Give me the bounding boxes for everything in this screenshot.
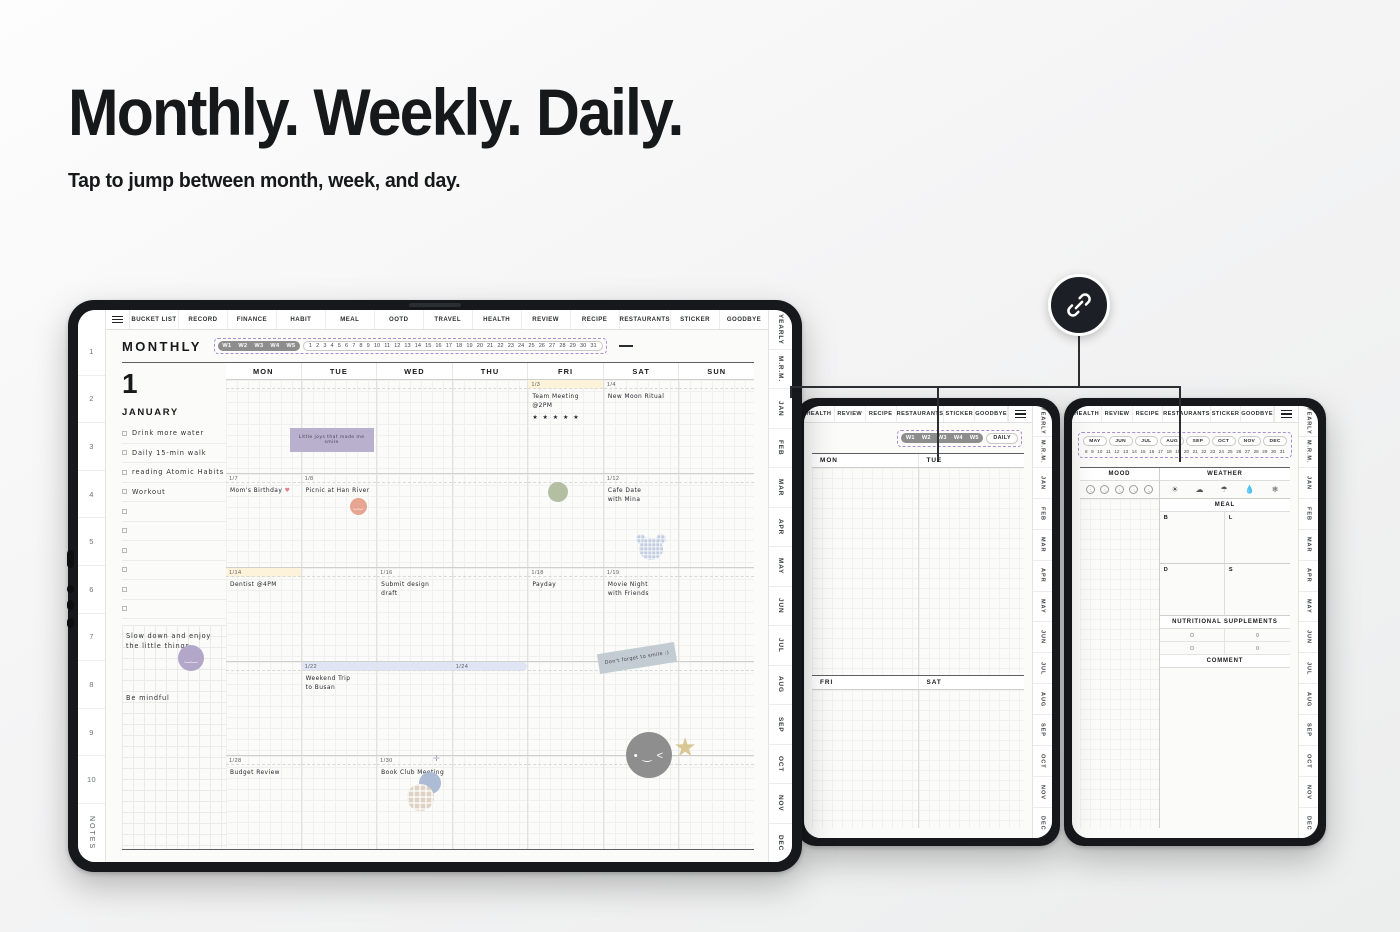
nav-item-sticker[interactable]: STICKER bbox=[671, 310, 720, 329]
page-number-5[interactable]: 5 bbox=[78, 518, 105, 566]
calendar-cell[interactable] bbox=[679, 380, 754, 473]
daily-day-number-30[interactable]: 30 bbox=[1271, 449, 1276, 454]
day-number-1[interactable]: 1 bbox=[309, 343, 312, 349]
daily-pill[interactable]: DAILY bbox=[986, 433, 1018, 444]
todo-row[interactable]: Workout bbox=[122, 483, 226, 503]
nav-item-ootd[interactable]: OOTD bbox=[375, 310, 424, 329]
weekly-month-rail[interactable]: YEARLYM.R.M.JANFEBMARAPRMAYJUNJULAUGSEPO… bbox=[1032, 406, 1052, 838]
dow-tue: TUE bbox=[302, 363, 378, 379]
month-tab-may[interactable]: MAY bbox=[769, 547, 792, 587]
page-number-3[interactable]: 3 bbox=[78, 423, 105, 471]
month-tab-mar[interactable]: MAR bbox=[1299, 530, 1318, 561]
weather-header: WEATHER bbox=[1160, 468, 1290, 481]
nav-item-recipe[interactable]: RECIPE bbox=[571, 310, 620, 329]
day-number-11[interactable]: 11 bbox=[384, 343, 390, 349]
nav-item-recipe[interactable]: RECIPE bbox=[866, 406, 897, 422]
calendar-cell[interactable]: Little joys that made me smile bbox=[302, 380, 378, 473]
month-tab-oct[interactable]: OCT bbox=[769, 745, 792, 785]
meal-slot-dinner[interactable]: D bbox=[1160, 564, 1225, 616]
month-tab-mrm[interactable]: M.R.M. bbox=[1033, 437, 1052, 468]
nav-item-restaurants[interactable]: RESTAURANTS bbox=[1163, 406, 1211, 422]
calendar-cell[interactable]: 1/12Cafe Datewith Mina bbox=[604, 474, 680, 567]
month-tab-sep[interactable]: SEP bbox=[769, 705, 792, 745]
daily-day-number-23[interactable]: 23 bbox=[1210, 449, 1215, 454]
nav-item-bucket-list[interactable]: BUCKET LIST bbox=[130, 310, 179, 329]
month-tab-jan[interactable]: JAN bbox=[769, 389, 792, 429]
calendar-cell[interactable] bbox=[679, 474, 754, 567]
weekly-content: MON TUE FRI SAT bbox=[804, 453, 1032, 838]
month-pill-dec[interactable]: DEC bbox=[1263, 436, 1287, 446]
daily-day-number-22[interactable]: 22 bbox=[1201, 449, 1206, 454]
calendar-cell[interactable]: 1/7Mom's Birthday ♥ bbox=[226, 474, 302, 567]
month-tab-nov[interactable]: NOV bbox=[1299, 777, 1318, 808]
month-tab-aug[interactable]: AUG bbox=[769, 666, 792, 706]
bear-ear-right bbox=[656, 534, 666, 544]
week-pill-w2[interactable]: W2 bbox=[237, 342, 249, 350]
day-number-10[interactable]: 10 bbox=[374, 343, 380, 349]
month-tab-mrm[interactable]: M.R.M. bbox=[769, 350, 792, 390]
calendar-cell[interactable] bbox=[453, 756, 529, 849]
weekly-cell-tue[interactable] bbox=[919, 468, 1025, 675]
cell-date-label bbox=[453, 474, 528, 483]
month-tab-apr[interactable]: APR bbox=[1299, 561, 1318, 592]
daily-day-number-27[interactable]: 27 bbox=[1245, 449, 1250, 454]
month-tab-jul[interactable]: JUL bbox=[769, 626, 792, 666]
day-number-strip[interactable]: 1234567891011121314151617181920212223242… bbox=[303, 341, 603, 351]
hamburger-icon[interactable] bbox=[1274, 406, 1298, 422]
weekly-cell-sat[interactable] bbox=[919, 690, 1025, 828]
calendar-cell[interactable] bbox=[226, 380, 302, 473]
daily-day-number-15[interactable]: 15 bbox=[1140, 449, 1145, 454]
month-pill-jul[interactable]: JUL bbox=[1135, 436, 1159, 446]
checkbox-icon[interactable] bbox=[122, 548, 127, 553]
month-tab-nov[interactable]: NOV bbox=[769, 784, 792, 824]
calendar-cell[interactable]: 1/16Submit design draft bbox=[377, 568, 453, 661]
meal-slot-breakfast[interactable]: B bbox=[1160, 512, 1225, 564]
day-number-17[interactable]: 17 bbox=[446, 343, 452, 349]
cell-event-text: Submit design draft bbox=[377, 577, 452, 600]
nav-item-review[interactable]: REVIEW bbox=[1102, 406, 1132, 422]
todo-row[interactable] bbox=[122, 541, 226, 561]
month-tab-apr[interactable]: APR bbox=[1033, 561, 1052, 592]
day-number-19[interactable]: 19 bbox=[466, 343, 472, 349]
nav-item-meal[interactable]: MEAL bbox=[326, 310, 375, 329]
daily-day-number-16[interactable]: 16 bbox=[1149, 449, 1154, 454]
notes-box[interactable]: Slow down and enjoy the little things Be… bbox=[122, 625, 226, 850]
month-tab-jul[interactable]: JUL bbox=[1299, 653, 1318, 684]
month-tab-jan[interactable]: JAN bbox=[1299, 468, 1318, 499]
day-number-21[interactable]: 21 bbox=[487, 343, 493, 349]
day-number-9[interactable]: 9 bbox=[367, 343, 370, 349]
day-number-22[interactable]: 22 bbox=[497, 343, 503, 349]
calendar-cell[interactable]: 1/30Book Club Meeting✛ bbox=[377, 756, 453, 849]
calendar-cell[interactable] bbox=[377, 380, 453, 473]
daily-day-number-24[interactable]: 24 bbox=[1219, 449, 1224, 454]
todo-row[interactable] bbox=[122, 580, 226, 600]
page-number-rail[interactable]: 12345678910NOTES bbox=[78, 310, 106, 862]
calendar-cell[interactable]: 1/24 bbox=[453, 662, 529, 755]
cell-date-label bbox=[377, 474, 452, 483]
nav-item-review[interactable]: REVIEW bbox=[835, 406, 866, 422]
month-tab-sep[interactable]: SEP bbox=[1033, 715, 1052, 746]
day-number-27[interactable]: 27 bbox=[549, 343, 555, 349]
rail-notes-tab[interactable]: NOTES bbox=[78, 804, 105, 862]
nav-item-travel[interactable]: TRAVEL bbox=[424, 310, 473, 329]
calendar-cell[interactable] bbox=[679, 662, 754, 755]
todo-row[interactable]: Drink more water bbox=[122, 424, 226, 444]
nav-item-recipe[interactable]: RECIPE bbox=[1133, 406, 1163, 422]
week-pill-w1[interactable]: W1 bbox=[904, 434, 916, 442]
hamburger-icon[interactable] bbox=[1008, 406, 1032, 422]
month-pill-nov[interactable]: NOV bbox=[1238, 436, 1262, 446]
todo-row[interactable] bbox=[122, 561, 226, 581]
weekly-header-row-bottom: FRI SAT bbox=[812, 676, 1024, 690]
day-number-4[interactable]: 4 bbox=[331, 343, 334, 349]
rain-icon[interactable]: ☂ bbox=[1221, 485, 1228, 494]
sun-icon[interactable]: ☀ bbox=[1171, 485, 1178, 494]
weekly-cell-mon[interactable] bbox=[812, 468, 919, 675]
daily-columns: MOOD ·̮ ·̮ ·̮ ·̮ ·̮ WEATHER ☀ bbox=[1080, 467, 1290, 828]
calendar-cell[interactable] bbox=[453, 568, 529, 661]
nav-item-sticker[interactable]: STICKER bbox=[1211, 406, 1241, 422]
month-tab-jul[interactable]: JUL bbox=[1033, 653, 1052, 684]
todo-row[interactable] bbox=[122, 502, 226, 522]
page-number-8[interactable]: 8 bbox=[78, 661, 105, 709]
daily-day-number-8[interactable]: 8 bbox=[1085, 449, 1088, 454]
link-badge[interactable] bbox=[1048, 274, 1110, 336]
page-number-2[interactable]: 2 bbox=[78, 376, 105, 424]
mood-icon-2[interactable]: ·̮ bbox=[1100, 485, 1109, 494]
page-number-4[interactable]: 4 bbox=[78, 471, 105, 519]
volume-button[interactable] bbox=[67, 550, 74, 568]
month-tab-dec[interactable]: DEC bbox=[769, 824, 792, 863]
month-tab-nov[interactable]: NOV bbox=[1033, 777, 1052, 808]
page-number-6[interactable]: 6 bbox=[78, 566, 105, 614]
month-tab-may[interactable]: MAY bbox=[1033, 592, 1052, 623]
daily-day-number-31[interactable]: 31 bbox=[1280, 449, 1285, 454]
calendar-cell[interactable]: 1/4New Moon Ritual bbox=[604, 380, 680, 473]
nav-item-record[interactable]: RECORD bbox=[179, 310, 228, 329]
month-tab-yearly[interactable]: YEARLY bbox=[1033, 406, 1052, 437]
nav-item-sticker[interactable]: STICKER bbox=[944, 406, 975, 422]
day-number-20[interactable]: 20 bbox=[477, 343, 483, 349]
nav-item-habit[interactable]: HABIT bbox=[277, 310, 326, 329]
week-pill-w4[interactable]: W4 bbox=[269, 342, 281, 350]
nav-item-goodbye[interactable]: GOODBYE bbox=[975, 406, 1008, 422]
cell-date-label: 1/3 bbox=[528, 380, 603, 389]
calendar-cell[interactable] bbox=[528, 662, 604, 755]
page-title: Monthly. Weekly. Daily. bbox=[68, 78, 683, 147]
day-number-18[interactable]: 18 bbox=[456, 343, 462, 349]
meal-slot-lunch[interactable]: L bbox=[1225, 512, 1290, 564]
checkbox-icon[interactable] bbox=[122, 567, 127, 572]
month-pill-jun[interactable]: JUN bbox=[1109, 436, 1133, 446]
cloud-icon[interactable]: ☁ bbox=[1196, 485, 1204, 494]
dow-mon: MON bbox=[226, 363, 302, 379]
cell-date-label bbox=[302, 756, 377, 765]
todo-row[interactable]: reading Atomic Habits bbox=[122, 463, 226, 483]
month-tab-jun[interactable]: JUN bbox=[1299, 622, 1318, 653]
month-tab-feb[interactable]: FEB bbox=[1033, 499, 1052, 530]
nav-item-goodbye[interactable]: GOODBYE bbox=[720, 310, 768, 329]
month-tab-yearly[interactable]: YEARLY bbox=[769, 310, 792, 350]
day-number-30[interactable]: 30 bbox=[580, 343, 586, 349]
page-number-9[interactable]: 9 bbox=[78, 709, 105, 757]
weekly-body-top bbox=[812, 468, 1024, 675]
week-pill-w1[interactable]: W1 bbox=[221, 342, 233, 350]
daily-day-number-13[interactable]: 13 bbox=[1123, 449, 1128, 454]
daily-day-number-10[interactable]: 10 bbox=[1097, 449, 1102, 454]
todo-row[interactable]: Daily 15-min walk bbox=[122, 444, 226, 464]
supplement-cell[interactable] bbox=[1160, 629, 1226, 641]
mood-icon-3[interactable]: ·̮ bbox=[1115, 485, 1124, 494]
calendar-cell[interactable] bbox=[528, 474, 604, 567]
month-tab-feb[interactable]: FEB bbox=[1299, 499, 1318, 530]
button-small-3[interactable] bbox=[67, 618, 74, 628]
nav-item-health[interactable]: HEALTH bbox=[804, 406, 835, 422]
checkbox-icon[interactable] bbox=[122, 587, 127, 592]
connector-vertical-right bbox=[1179, 386, 1181, 462]
checkbox-icon[interactable] bbox=[122, 528, 127, 533]
calendar-cell[interactable] bbox=[302, 756, 378, 849]
drop-icon[interactable]: 💧 bbox=[1245, 485, 1255, 494]
month-tab-mar[interactable]: MAR bbox=[1033, 530, 1052, 561]
daily-day-number-14[interactable]: 14 bbox=[1132, 449, 1137, 454]
month-tab-may[interactable]: MAY bbox=[1299, 592, 1318, 623]
day-number-25[interactable]: 25 bbox=[528, 343, 534, 349]
daily-month-day-selector[interactable]: MAY JUN JUL AUG SEP OCT NOV DEC 89101112… bbox=[1078, 432, 1292, 458]
calendar-cell[interactable] bbox=[453, 474, 529, 567]
calendar-cell[interactable] bbox=[226, 662, 302, 755]
day-number-15[interactable]: 15 bbox=[425, 343, 431, 349]
meal-slot-snack[interactable]: S bbox=[1225, 564, 1290, 616]
sticker-gingham-circle bbox=[407, 784, 434, 811]
month-pill-oct[interactable]: OCT bbox=[1212, 436, 1236, 446]
daily-day-number-20[interactable]: 20 bbox=[1184, 449, 1189, 454]
hamburger-icon[interactable] bbox=[106, 310, 130, 329]
day-number-31[interactable]: 31 bbox=[590, 343, 596, 349]
checkbox-icon[interactable] bbox=[122, 606, 127, 611]
todo-label: Drink more water bbox=[132, 429, 204, 437]
mood-icon-1[interactable]: ·̮ bbox=[1086, 485, 1095, 494]
day-number-23[interactable]: 23 bbox=[508, 343, 514, 349]
selector-connector-tail bbox=[619, 345, 633, 346]
nav-item-restaurants[interactable]: RESTAURANTS bbox=[620, 310, 672, 329]
monthly-week-day-selector[interactable]: W1 W2 W3 W4 W5 1234567891011121314151617… bbox=[214, 338, 607, 354]
month-tab-sep[interactable]: SEP bbox=[1299, 715, 1318, 746]
month-tab-dec[interactable]: DEC bbox=[1299, 808, 1318, 838]
calendar-cell[interactable] bbox=[528, 756, 604, 849]
calendar-cell[interactable] bbox=[679, 568, 754, 661]
meal-grid: B L D S bbox=[1160, 512, 1290, 616]
supplement-row[interactable] bbox=[1160, 642, 1290, 655]
calendar-cell[interactable]: 1/19Movie Nightwith Friends bbox=[604, 568, 680, 661]
supplement-cell[interactable] bbox=[1160, 642, 1226, 654]
calendar-cell[interactable]: 1/3Team Meeting@2PM★ ★ ★ ★ ★ bbox=[528, 380, 604, 473]
mood-icon-4[interactable]: ·̮ bbox=[1129, 485, 1138, 494]
mood-row: ·̮ ·̮ ·̮ ·̮ ·̮ bbox=[1080, 481, 1159, 499]
calendar-cell[interactable] bbox=[302, 568, 378, 661]
nav-item-review[interactable]: REVIEW bbox=[522, 310, 571, 329]
nav-item-finance[interactable]: FINANCE bbox=[228, 310, 277, 329]
monthly-calendar-wrap: 1 JANUARY Drink more waterDaily 15-min w… bbox=[106, 362, 768, 862]
cell-date-label bbox=[604, 756, 679, 765]
bear-head bbox=[639, 538, 663, 560]
daily-day-number-18[interactable]: 18 bbox=[1167, 449, 1172, 454]
snow-icon[interactable]: ❄ bbox=[1272, 485, 1279, 494]
daily-day-number-29[interactable]: 29 bbox=[1262, 449, 1267, 454]
calendar-cell[interactable]: 1/22Weekend Tripto Busan bbox=[302, 662, 378, 755]
week-pill-w4[interactable]: W4 bbox=[952, 434, 964, 442]
week-pill-group[interactable]: W1 W2 W3 W4 W5 bbox=[901, 433, 983, 443]
note-line-2: the little things bbox=[126, 641, 222, 651]
weekly-header-row-top: MON TUE bbox=[812, 454, 1024, 468]
daily-topnav: HEALTH REVIEW RECIPE RESTAURANTS STICKER… bbox=[1072, 406, 1298, 423]
tablet-daily: HEALTH REVIEW RECIPE RESTAURANTS STICKER… bbox=[1064, 398, 1326, 846]
day-number-5[interactable]: 5 bbox=[338, 343, 341, 349]
daily-page: HEALTH REVIEW RECIPE RESTAURANTS STICKER… bbox=[1072, 406, 1298, 838]
day-number-3[interactable]: 3 bbox=[323, 343, 326, 349]
comment-area[interactable] bbox=[1160, 668, 1290, 828]
mood-icon-5[interactable]: ·̮ bbox=[1144, 485, 1153, 494]
month-tab-yearly[interactable]: YEARLY bbox=[1299, 406, 1318, 437]
day-number-7[interactable]: 7 bbox=[352, 343, 355, 349]
button-small[interactable] bbox=[67, 585, 74, 593]
daily-day-number-9[interactable]: 9 bbox=[1091, 449, 1094, 454]
daily-left-blank-area[interactable] bbox=[1080, 499, 1159, 828]
week-pill-w2[interactable]: W2 bbox=[920, 434, 932, 442]
checkbox-dot-icon bbox=[1256, 633, 1260, 637]
daily-month-rail[interactable]: YEARLYM.R.M.JANFEBMARAPRMAYJUNJULAUGSEPO… bbox=[1298, 406, 1318, 838]
day-number-28[interactable]: 28 bbox=[559, 343, 565, 349]
checkbox-icon[interactable] bbox=[122, 489, 127, 494]
monthly-sidebar: 1 JANUARY Drink more waterDaily 15-min w… bbox=[122, 362, 226, 850]
calendar-cell[interactable]: ★ bbox=[679, 756, 754, 849]
month-tab-jun[interactable]: JUN bbox=[1033, 622, 1052, 653]
cell-date-label bbox=[679, 380, 754, 389]
daily-day-number-12[interactable]: 12 bbox=[1114, 449, 1119, 454]
todo-row[interactable] bbox=[122, 522, 226, 542]
checkbox-icon[interactable] bbox=[122, 431, 127, 436]
todo-list[interactable]: Drink more waterDaily 15-min walkreading… bbox=[122, 424, 226, 619]
month-pill-sep[interactable]: SEP bbox=[1186, 436, 1210, 446]
cell-date-label bbox=[604, 662, 679, 671]
button-small-2[interactable] bbox=[67, 600, 74, 610]
daily-day-number-28[interactable]: 28 bbox=[1254, 449, 1259, 454]
month-tab-aug[interactable]: AUG bbox=[1299, 684, 1318, 715]
calendar-cell[interactable]: 1/8Picnic at Han River‿‿ bbox=[302, 474, 378, 567]
calendar-week-row: 1/14Dentist @4PM1/16Submit design draft1… bbox=[226, 568, 754, 662]
camera-icon bbox=[409, 303, 461, 307]
checkbox-dot-icon bbox=[1190, 633, 1194, 637]
month-pill-may[interactable]: MAY bbox=[1083, 436, 1107, 446]
supplement-cell[interactable] bbox=[1225, 642, 1290, 654]
cell-date-label: 1/28 bbox=[226, 756, 301, 765]
month-tab-oct[interactable]: OCT bbox=[1033, 746, 1052, 777]
day-number-29[interactable]: 29 bbox=[570, 343, 576, 349]
cell-date-label: 1/18 bbox=[528, 568, 603, 577]
monthly-month-rail[interactable]: YEARLYM.R.M.JANFEBMARAPRMAYJUNJULAUGSEPO… bbox=[768, 310, 792, 862]
week-pill-w5[interactable]: W5 bbox=[285, 342, 297, 350]
day-number-12[interactable]: 12 bbox=[394, 343, 400, 349]
daily-day-number-25[interactable]: 25 bbox=[1227, 449, 1232, 454]
cell-date-label bbox=[302, 380, 377, 389]
month-tab-apr[interactable]: APR bbox=[769, 508, 792, 548]
tablet-weekly: HEALTH REVIEW RECIPE RESTAURANTS STICKER… bbox=[796, 398, 1060, 846]
checkbox-icon[interactable] bbox=[122, 470, 127, 475]
note-line-1: Slow down and enjoy bbox=[126, 631, 222, 641]
day-number-24[interactable]: 24 bbox=[518, 343, 524, 349]
daily-day-number-row[interactable]: 8910111213141516171819202122232425262728… bbox=[1083, 449, 1287, 454]
daily-day-number-26[interactable]: 26 bbox=[1236, 449, 1241, 454]
month-tab-dec[interactable]: DEC bbox=[1033, 808, 1052, 838]
month-tab-mrm[interactable]: M.R.M. bbox=[1299, 437, 1318, 468]
month-tab-aug[interactable]: AUG bbox=[1033, 684, 1052, 715]
day-number-13[interactable]: 13 bbox=[404, 343, 410, 349]
calendar-cell[interactable] bbox=[377, 474, 453, 567]
calendar-weeks: Little joys that made me smile1/3Team Me… bbox=[226, 380, 754, 850]
page-number-10[interactable]: 10 bbox=[78, 756, 105, 804]
sticker-note-purple: Little joys that made me smile bbox=[290, 428, 374, 452]
day-number-6[interactable]: 6 bbox=[345, 343, 348, 349]
calendar-cell[interactable]: Don't forget to smile :) bbox=[604, 662, 680, 755]
day-number-8[interactable]: 8 bbox=[359, 343, 362, 349]
calendar-cell[interactable] bbox=[453, 380, 529, 473]
month-tab-mar[interactable]: MAR bbox=[769, 468, 792, 508]
day-of-week-row: MONTUEWEDTHUFRISATSUN bbox=[226, 362, 754, 380]
daily-screen: HEALTH REVIEW RECIPE RESTAURANTS STICKER… bbox=[1072, 406, 1318, 838]
day-number-26[interactable]: 26 bbox=[539, 343, 545, 349]
month-tab-feb[interactable]: FEB bbox=[769, 429, 792, 469]
daily-day-number-21[interactable]: 21 bbox=[1193, 449, 1198, 454]
calendar-cell[interactable]: • ‿ < bbox=[604, 756, 680, 849]
dow-sat: SAT bbox=[604, 363, 680, 379]
day-number-2[interactable]: 2 bbox=[316, 343, 319, 349]
week-pill-w5[interactable]: W5 bbox=[968, 434, 980, 442]
week-pill-w3[interactable]: W3 bbox=[253, 342, 265, 350]
supplement-row[interactable] bbox=[1160, 629, 1290, 642]
month-tab-jan[interactable]: JAN bbox=[1033, 468, 1052, 499]
cell-event-text: Team Meeting@2PM bbox=[528, 389, 603, 412]
weekly-week-selector[interactable]: W1 W2 W3 W4 W5 DAILY bbox=[897, 430, 1022, 447]
page-number-1[interactable]: 1 bbox=[78, 328, 105, 376]
daily-day-number-11[interactable]: 11 bbox=[1106, 449, 1111, 454]
daily-day-number-17[interactable]: 17 bbox=[1158, 449, 1163, 454]
nav-item-health[interactable]: HEALTH bbox=[473, 310, 522, 329]
month-tab-jun[interactable]: JUN bbox=[769, 587, 792, 627]
checkbox-icon[interactable] bbox=[122, 509, 127, 514]
calendar-cell[interactable]: 1/28Budget Review bbox=[226, 756, 302, 849]
calendar-cell[interactable]: 1/18Payday bbox=[528, 568, 604, 661]
month-tab-oct[interactable]: OCT bbox=[1299, 746, 1318, 777]
page-number-7[interactable]: 7 bbox=[78, 614, 105, 662]
weekly-cell-fri[interactable] bbox=[812, 690, 919, 828]
calendar-cell[interactable]: 1/14Dentist @4PM bbox=[226, 568, 302, 661]
day-number-16[interactable]: 16 bbox=[435, 343, 441, 349]
cell-date-label bbox=[679, 474, 754, 483]
nav-item-goodbye[interactable]: GOODBYE bbox=[1241, 406, 1274, 422]
cell-date-label: 1/19 bbox=[604, 568, 679, 577]
supplement-cell[interactable] bbox=[1225, 629, 1290, 641]
weather-row: ☀ ☁ ☂ 💧 ❄ bbox=[1160, 481, 1290, 499]
todo-row[interactable] bbox=[122, 600, 226, 620]
cell-date-label bbox=[679, 568, 754, 577]
calendar-cell[interactable] bbox=[377, 662, 453, 755]
week-pill-group[interactable]: W1 W2 W3 W4 W5 bbox=[218, 341, 300, 351]
day-number-14[interactable]: 14 bbox=[415, 343, 421, 349]
checkbox-icon[interactable] bbox=[122, 450, 127, 455]
nav-item-health[interactable]: HEALTH bbox=[1072, 406, 1102, 422]
